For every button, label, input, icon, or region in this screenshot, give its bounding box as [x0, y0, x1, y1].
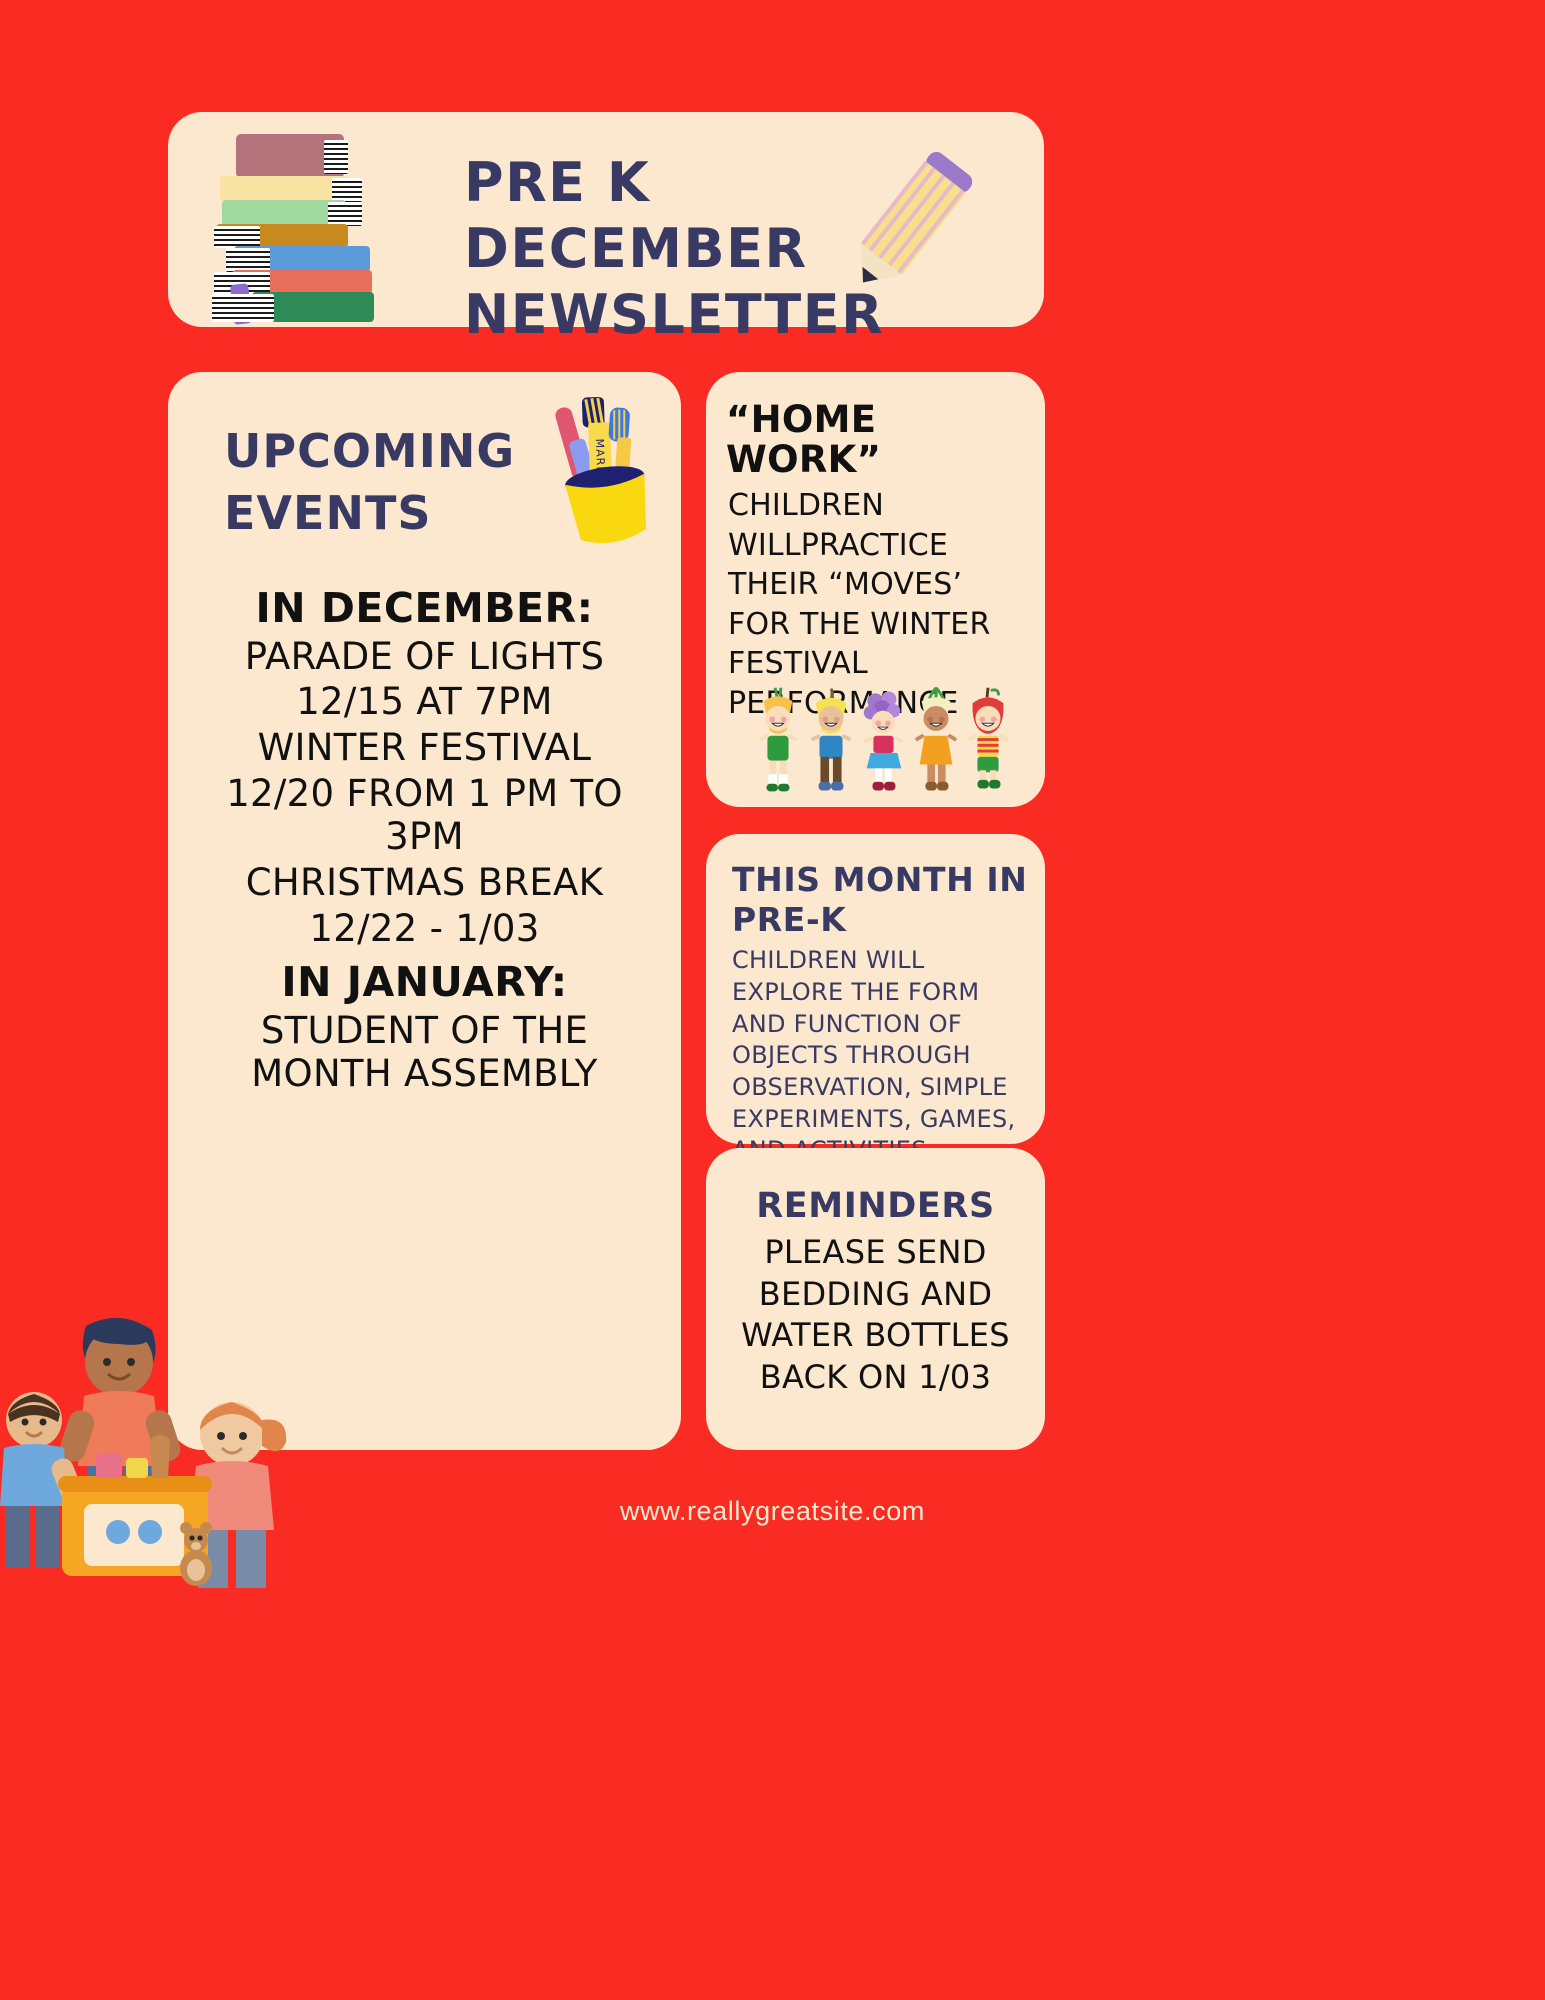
event-item: 12/15 at 7pm: [190, 680, 659, 724]
homework-line: their “moves’: [728, 565, 1031, 605]
events-body: In December: Parade of Lights 12/15 at 7…: [190, 584, 659, 1096]
reminders-card: Reminders Please send bedding and water …: [706, 1148, 1045, 1450]
january-label: In January:: [190, 958, 659, 1006]
event-item: Christmas Break: [190, 861, 659, 905]
vegetable-costume-kids-icon: [754, 679, 1012, 797]
header-card: Pre K December Newsletter: [168, 112, 1044, 327]
this-month-card: This Month in Pre-K Children will explor…: [706, 834, 1045, 1144]
reminder-line: Please send: [720, 1232, 1031, 1274]
homework-line: festival: [728, 644, 1031, 684]
homework-card: “Home Work” Children willpractice their …: [706, 372, 1045, 807]
homework-line: Children: [728, 486, 1031, 526]
stack-of-books-icon: [208, 134, 398, 326]
reminder-line: bedding and: [720, 1274, 1031, 1316]
events-heading: Upcoming Events: [224, 420, 524, 544]
december-label: In December:: [190, 584, 659, 632]
this-month-body: Children will explore the form and funct…: [732, 945, 1029, 1167]
homework-line: willpractice: [728, 526, 1031, 566]
event-item: Winter Festival: [190, 726, 659, 770]
homework-line: for the winter: [728, 605, 1031, 645]
reminders-title: Reminders: [720, 1186, 1031, 1226]
event-item: 12/22 - 1/03: [190, 907, 659, 951]
footer-url: www.reallygreatsite.com: [0, 1496, 1545, 1527]
pencil-icon: [822, 142, 997, 302]
marker-cup-icon: MARK: [546, 384, 666, 549]
upcoming-events-card: MARK Upcoming Events In December: Parade…: [168, 372, 681, 1450]
children-playing-icon: [0, 1290, 320, 1590]
reminders-body: Please send bedding and water bottles ba…: [720, 1232, 1031, 1398]
reminder-line: water bottles: [720, 1315, 1031, 1357]
event-item: 12/20 from 1 pm to 3pm: [190, 772, 659, 859]
event-item: Parade of Lights: [190, 635, 659, 679]
homework-title: “Home Work”: [726, 400, 1031, 480]
event-item: Student of the Month Assembly: [190, 1009, 659, 1096]
reminder-line: back on 1/03: [720, 1357, 1031, 1399]
this-month-title: This Month in Pre-K: [732, 860, 1029, 939]
